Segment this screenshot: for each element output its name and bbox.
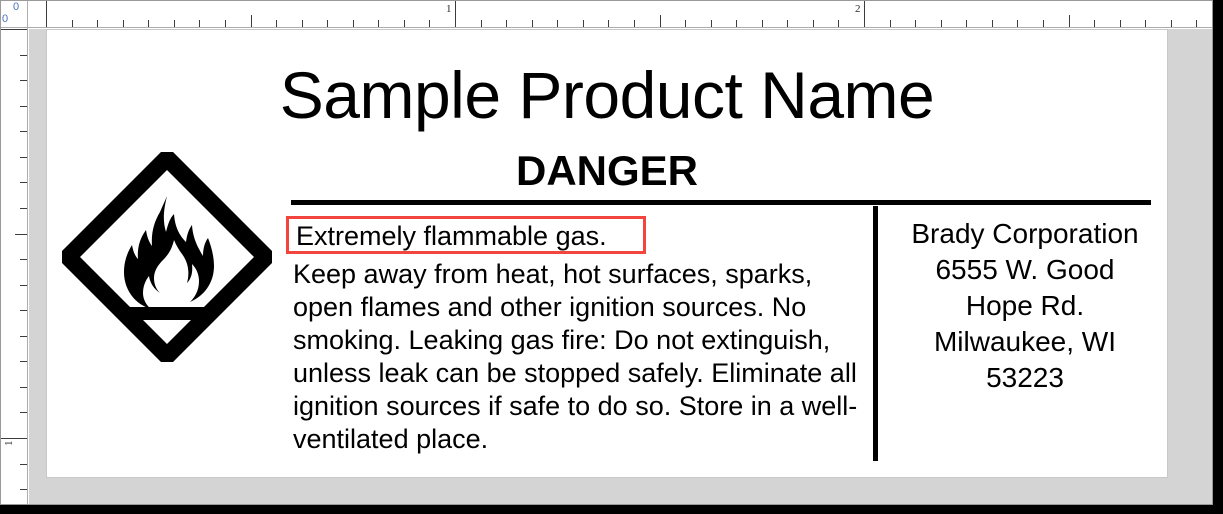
ghs-flame-pictogram[interactable]: [62, 152, 272, 362]
ruler-tick-h: [736, 20, 737, 27]
ruler-tick-h: [787, 20, 788, 27]
supplier-line-4: Milwaukee, WI: [885, 324, 1165, 360]
ruler-tick-h: [199, 20, 200, 27]
ruler-tick-v: [20, 157, 27, 158]
window-shadow-right: [1213, 0, 1223, 514]
ruler-label-h: 2: [855, 3, 861, 15]
ruler-tick-h: [481, 20, 482, 27]
ruler-tick-h: [404, 20, 405, 27]
ruler-tick-h: [46, 1, 47, 27]
ruler-tick-h: [506, 20, 507, 27]
precautionary-statement-text[interactable]: Keep away from heat, hot surfaces, spark…: [293, 258, 868, 456]
ruler-tick-v: [20, 489, 27, 490]
ruler-tick-h: [711, 20, 712, 27]
ruler-tick-v: [20, 285, 27, 286]
ruler-tick-h: [327, 20, 328, 27]
ruler-tick-h: [813, 20, 814, 27]
ruler-tick-h: [1145, 20, 1146, 27]
ruler-tick-v: [15, 234, 27, 235]
ruler-tick-h: [353, 20, 354, 27]
ruler-tick-h: [1120, 20, 1121, 27]
ruler-tick-v: [20, 412, 27, 413]
horizontal-ruler[interactable]: 12: [28, 1, 1212, 28]
ruler-tick-h: [941, 20, 942, 27]
label-product-title[interactable]: Sample Product Name: [47, 62, 1167, 128]
ruler-tick-v: [20, 55, 27, 56]
ruler-tick-h: [251, 15, 252, 27]
hazard-statement-selection-box[interactable]: Extremely flammable gas.: [286, 216, 646, 254]
ruler-tick-h: [1094, 20, 1095, 27]
supplier-line-3: Hope Rd.: [885, 288, 1165, 324]
ruler-tick-v: [20, 361, 27, 362]
column-divider-rule: [873, 206, 878, 461]
ruler-tick-h: [97, 20, 98, 27]
ruler-tick-h: [276, 20, 277, 27]
flame-diamond-icon: [62, 152, 272, 362]
supplier-line-1: Brady Corporation: [885, 216, 1165, 252]
ruler-tick-h: [532, 20, 533, 27]
ruler-tick-h: [1043, 20, 1044, 27]
ruler-tick-h: [1017, 20, 1018, 27]
label-designer-window: 0 0 12 1 Sample Product Name DANGER: [0, 0, 1223, 514]
ruler-tick-v: [20, 208, 27, 209]
ruler-tick-h: [378, 20, 379, 27]
ruler-tick-h: [123, 20, 124, 27]
ruler-origin-icon: 0: [13, 1, 19, 13]
ruler-tick-h: [225, 20, 226, 27]
ruler-tick-v: [20, 464, 27, 465]
ruler-tick-h: [1171, 20, 1172, 27]
ruler-tick-v: [20, 106, 27, 107]
design-canvas[interactable]: Sample Product Name DANGER Extremely fla…: [29, 29, 1212, 504]
ruler-tick-v: [20, 182, 27, 183]
ruler-tick-v: [20, 387, 27, 388]
supplier-information-block[interactable]: Brady Corporation 6555 W. Good Hope Rd. …: [885, 216, 1165, 396]
vertical-ruler[interactable]: 1: [1, 28, 28, 504]
ruler-label-h: 1: [446, 3, 452, 15]
ruler-tick-h: [72, 20, 73, 27]
hazard-statement-text[interactable]: Extremely flammable gas.: [296, 221, 607, 251]
ruler-tick-h: [762, 20, 763, 27]
ruler-tick-h: [890, 20, 891, 27]
ruler-tick-h: [915, 20, 916, 27]
ruler-tick-h: [148, 20, 149, 27]
ruler-tick-v: [20, 336, 27, 337]
header-divider-rule: [291, 200, 1151, 205]
ruler-tick-h: [660, 15, 661, 27]
ruler-tick-v: [1, 29, 27, 30]
ruler-tick-v: [1, 438, 27, 439]
ruler-tick-v: [20, 131, 27, 132]
ruler-tick-v: [20, 80, 27, 81]
supplier-line-5: 53223: [885, 360, 1165, 396]
ruler-label-v: 1: [3, 441, 15, 447]
ruler-tick-h: [992, 20, 993, 27]
ruler-tick-h: [864, 1, 865, 27]
ruler-tick-v: [20, 310, 27, 311]
ruler-origin-vertical-icon: 0: [2, 13, 8, 25]
ruler-tick-h: [455, 1, 456, 27]
ruler-tick-h: [838, 20, 839, 27]
ruler-tick-h: [634, 20, 635, 27]
ruler-origin-corner[interactable]: 0 0: [1, 1, 28, 28]
ruler-tick-h: [302, 20, 303, 27]
label-artboard[interactable]: Sample Product Name DANGER Extremely fla…: [46, 29, 1168, 478]
ruler-tick-h: [685, 20, 686, 27]
ruler-tick-h: [1196, 20, 1197, 27]
window-shadow-bottom: [0, 505, 1223, 514]
ruler-tick-h: [966, 20, 967, 27]
supplier-line-2: 6555 W. Good: [885, 252, 1165, 288]
ruler-tick-h: [583, 20, 584, 27]
ruler-tick-h: [557, 20, 558, 27]
ruler-tick-h: [1069, 15, 1070, 27]
ruler-tick-v: [20, 259, 27, 260]
ruler-tick-h: [608, 20, 609, 27]
ruler-tick-h: [429, 20, 430, 27]
ruler-tick-h: [174, 20, 175, 27]
